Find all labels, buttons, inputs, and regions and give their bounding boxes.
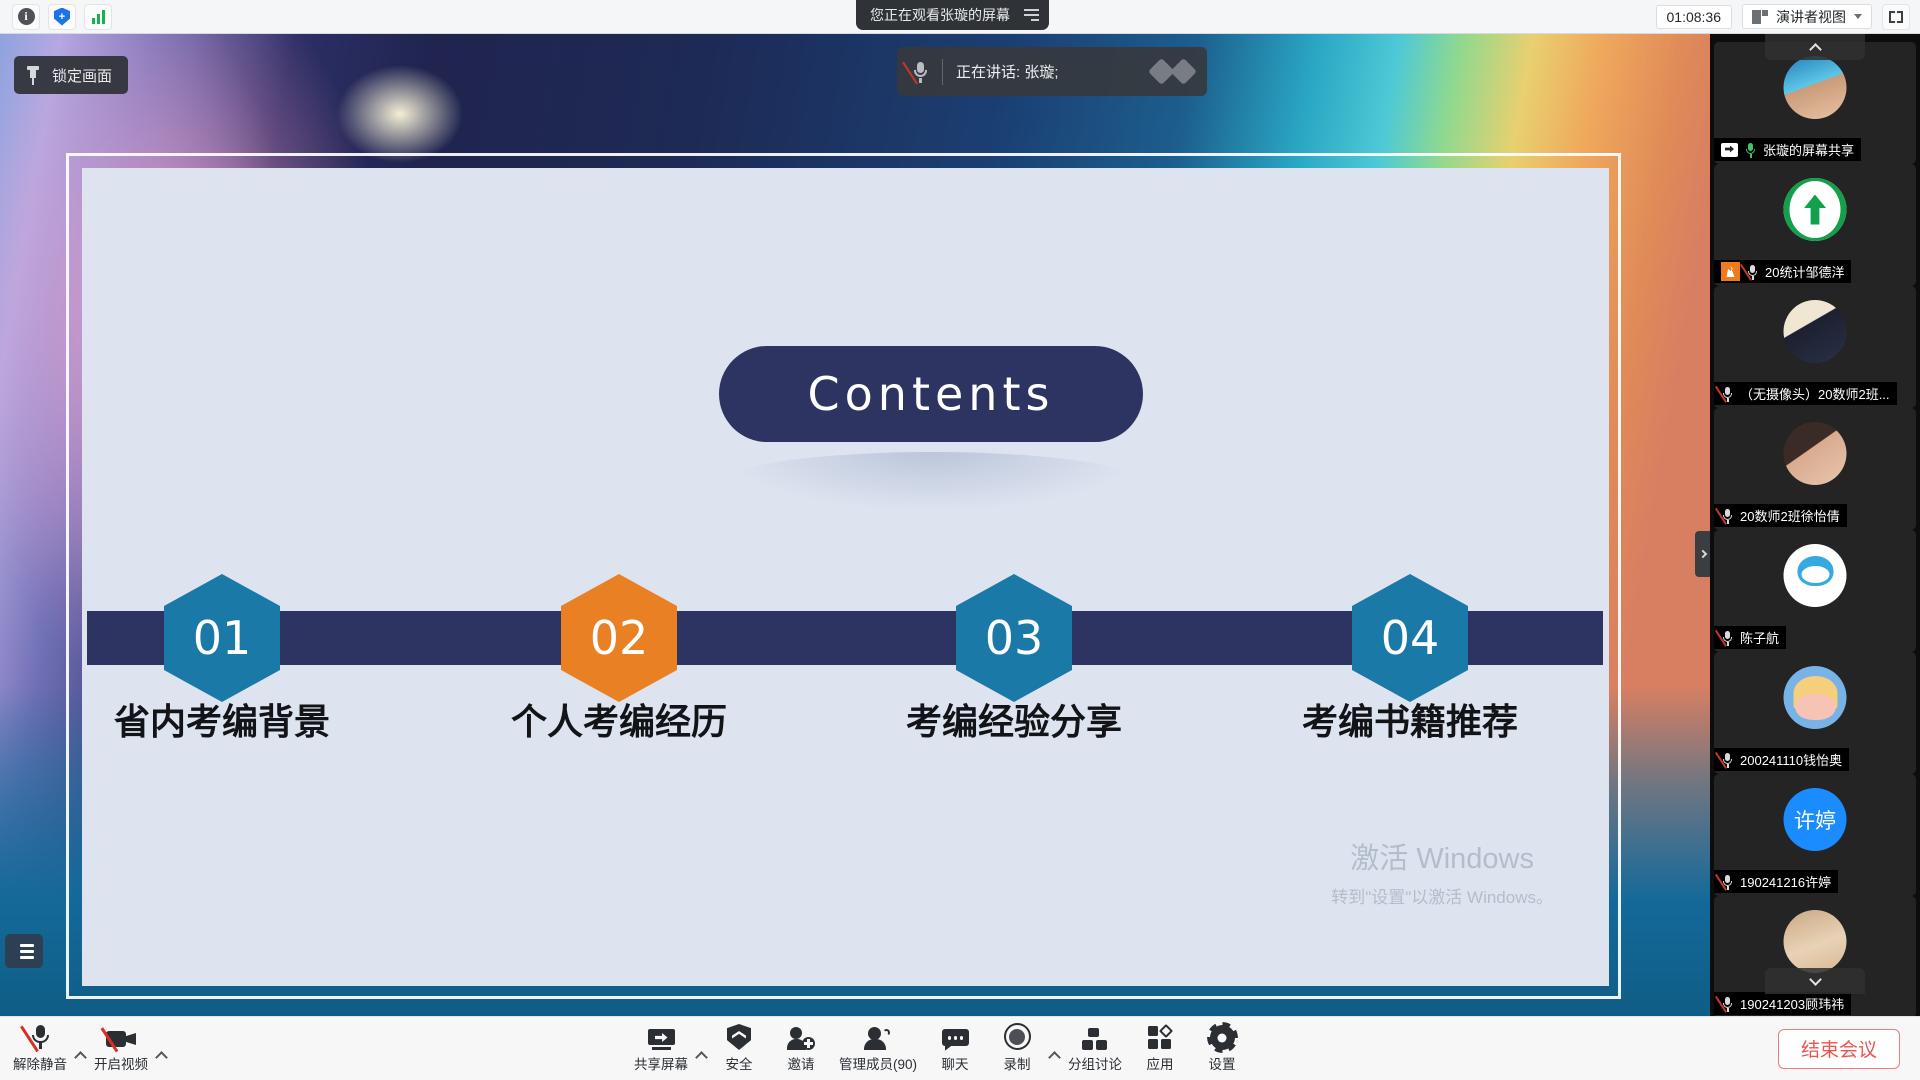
timeline-hex-03: 03 [956, 574, 1072, 702]
slide-title-shadow [727, 452, 1137, 510]
toolbar-center-group: 共享屏幕安全邀请管理成员(90)聊天录制分组讨论应用设置 [627, 1018, 1253, 1080]
exit-fullscreen-button[interactable] [1882, 4, 1910, 30]
participant-tile[interactable]: 200241110钱怡奥 [1714, 652, 1916, 774]
participant-footer: 陈子航 [1714, 626, 1786, 649]
toolbar-button-breakout-rooms[interactable]: 分组讨论 [1061, 1018, 1129, 1080]
shared-screen-stage[interactable]: 锁定画面 正在讲话: 张璇; Contents 01省内考编背景02个人考编经历… [0, 34, 1710, 1016]
slide-title: Contents [719, 346, 1143, 442]
mic-muted-icon [1721, 630, 1734, 646]
toolbar-button-invite-person[interactable]: 邀请 [770, 1018, 832, 1080]
lock-view-label: 锁定画面 [52, 65, 112, 86]
avatar [1784, 178, 1847, 241]
toolbar-button-camera-off[interactable]: 开启视频 [87, 1018, 155, 1080]
meeting-timer: 01:08:36 [1656, 5, 1733, 29]
mic-muted-icon [1721, 386, 1734, 402]
toolbar-button-chat-bubble[interactable]: 聊天 [924, 1018, 986, 1080]
participant-footer: 张璇的屏幕共享 [1714, 138, 1861, 161]
participant-tile[interactable]: 陈子航 [1714, 530, 1916, 652]
timeline-label-01: 省内考编背景 [57, 693, 387, 745]
toolbar-button-label: 安全 [726, 1053, 753, 1073]
divider [942, 59, 943, 85]
chevron-up-icon [1809, 43, 1822, 56]
presentation-slide: Contents 01省内考编背景02个人考编经历03考编经验分享04考编书籍推… [82, 168, 1609, 986]
toolbar-button-label: 邀请 [788, 1053, 815, 1073]
participant-name: 190241203顾玮祎 [1740, 994, 1844, 1013]
view-mode-selector[interactable]: 演讲者视图 [1742, 4, 1872, 29]
windows-activation-watermark: 激活 Windows 转到"设置"以激活 Windows。 [1331, 835, 1553, 908]
mic-muted-icon [28, 1024, 52, 1050]
avatar [1784, 56, 1847, 119]
rail-scroll-down-button[interactable] [1765, 968, 1865, 994]
mic-muted-icon [1721, 752, 1734, 768]
chat-bubble-icon [942, 1024, 969, 1050]
participant-name: 190241216许婷 [1740, 872, 1831, 891]
timeline-label-04: 考编书籍推荐 [1245, 693, 1575, 745]
mic-muted-icon [1721, 874, 1734, 890]
host-badge-icon [1721, 262, 1740, 281]
toolbar-button-label: 开启视频 [94, 1053, 148, 1073]
breakout-rooms-icon [1082, 1024, 1108, 1050]
participant-name: （无摄像头）20数师2班... [1740, 384, 1890, 403]
security-button[interactable]: + [48, 4, 76, 30]
audio-waveform-icon [1152, 62, 1193, 81]
timeline-label-02: 个人考编经历 [454, 693, 784, 745]
mic-on-icon [1744, 142, 1757, 158]
chevron-down-icon [1854, 14, 1862, 19]
timeline-hex-04: 04 [1352, 574, 1468, 702]
meeting-toolbar: 解除静音开启视频 共享屏幕安全邀请管理成员(90)聊天录制分组讨论应用设置 结束… [0, 1016, 1920, 1080]
camera-off-icon [106, 1024, 136, 1050]
active-speaker-label: 正在讲话: 张璇; [956, 61, 1059, 82]
toolbar-button-label: 应用 [1147, 1053, 1174, 1073]
participant-tile[interactable]: 张璇的屏幕共享 [1714, 42, 1916, 164]
avatar [1784, 666, 1847, 729]
subtitle-button[interactable] [5, 934, 43, 968]
chevron-right-icon [1698, 550, 1706, 558]
participant-name: 20统计邹德洋 [1765, 262, 1844, 281]
participant-rail[interactable]: 张璇的屏幕共享20统计邹德洋（无摄像头）20数师2班...20数师2班徐怡倩陈子… [1710, 34, 1920, 1016]
toolbar-button-gear[interactable]: 设置 [1191, 1018, 1253, 1080]
toolbar-button-share-screen[interactable]: 共享屏幕 [627, 1018, 695, 1080]
toolbar-button-record[interactable]: 录制 [986, 1018, 1048, 1080]
shield-plus-icon: + [54, 8, 70, 26]
toolbar-button-apps-grid[interactable]: 应用 [1129, 1018, 1191, 1080]
toolbar-button-label: 共享屏幕 [634, 1053, 688, 1073]
toolbar-button-security-shield[interactable]: 安全 [708, 1018, 770, 1080]
participant-name: 陈子航 [1740, 628, 1779, 647]
toolbar-button-mic-muted[interactable]: 解除静音 [6, 1018, 74, 1080]
view-mode-label: 演讲者视图 [1776, 7, 1846, 27]
toolbar-button-label: 分组讨论 [1068, 1053, 1122, 1073]
watching-screen-banner[interactable]: 您正在观看张璇的屏幕 [856, 0, 1049, 30]
collapse-rail-button[interactable] [1695, 531, 1710, 577]
timeline-hex-02: 02 [561, 574, 677, 702]
signal-bars-icon [92, 10, 105, 24]
participant-tile[interactable]: （无摄像头）20数师2班... [1714, 286, 1916, 408]
chevron-up-icon[interactable] [695, 1051, 708, 1064]
manage-participants-icon [864, 1024, 892, 1050]
avatar [1784, 910, 1847, 973]
timeline-hex-01: 01 [164, 574, 280, 702]
avatar: 许婷 [1784, 788, 1847, 851]
end-meeting-button[interactable]: 结束会议 [1778, 1029, 1900, 1069]
info-icon: i [18, 8, 35, 25]
chevron-up-icon[interactable] [1048, 1051, 1061, 1064]
toolbar-button-label: 聊天 [942, 1053, 969, 1073]
lock-view-button[interactable]: 锁定画面 [14, 56, 128, 94]
pin-icon [26, 65, 40, 85]
participant-footer: 200241110钱怡奥 [1714, 748, 1849, 771]
watching-label: 您正在观看张璇的屏幕 [870, 5, 1010, 25]
mic-muted-icon [1746, 264, 1759, 280]
participant-name: 张璇的屏幕共享 [1763, 140, 1854, 159]
subtitle-list-icon [14, 944, 34, 959]
timeline-label-03: 考编经验分享 [849, 693, 1179, 745]
participant-footer: 20统计邹德洋 [1714, 260, 1851, 283]
participant-footer: （无摄像头）20数师2班... [1714, 382, 1897, 405]
gear-icon [1210, 1024, 1235, 1050]
mic-muted-icon [1721, 996, 1734, 1012]
avatar [1784, 300, 1847, 363]
invite-person-icon [787, 1024, 815, 1050]
toolbar-button-label: 解除静音 [13, 1053, 67, 1073]
participant-tile[interactable]: 20数师2班徐怡倩 [1714, 408, 1916, 530]
mic-muted-icon [911, 61, 929, 83]
active-speaker-banner: 正在讲话: 张璇; [897, 47, 1207, 96]
watermark-line1: 激活 Windows [1331, 835, 1553, 877]
share-screen-icon [648, 1024, 675, 1050]
hamburger-menu-icon[interactable] [1024, 9, 1039, 21]
chevron-down-icon [1809, 973, 1822, 986]
speaker-view-icon [1752, 10, 1768, 24]
screen-share-icon [1721, 143, 1738, 157]
toolbar-button-label: 管理成员(90) [839, 1053, 917, 1073]
toolbar-button-manage-participants[interactable]: 管理成员(90) [832, 1018, 924, 1080]
toolbar-button-label: 设置 [1209, 1053, 1236, 1073]
record-icon [1004, 1024, 1031, 1050]
chevron-up-icon[interactable] [74, 1051, 87, 1064]
avatar [1784, 544, 1847, 607]
participant-footer: 20数师2班徐怡倩 [1714, 504, 1847, 527]
participant-tile[interactable]: 190241203顾玮祎 [1714, 896, 1916, 1016]
avatar [1784, 422, 1847, 485]
participant-name: 20数师2班徐怡倩 [1740, 506, 1840, 525]
toolbar-button-label: 录制 [1004, 1053, 1031, 1073]
participant-footer: 190241203顾玮祎 [1714, 992, 1851, 1015]
watermark-line2: 转到"设置"以激活 Windows。 [1331, 883, 1553, 908]
security-shield-icon [727, 1024, 751, 1050]
participant-name: 200241110钱怡奥 [1740, 750, 1842, 769]
info-button[interactable]: i [12, 4, 40, 30]
presentation-frame: Contents 01省内考编背景02个人考编经历03考编经验分享04考编书籍推… [66, 153, 1621, 999]
mic-muted-icon [1721, 508, 1734, 524]
toolbar-left-group: 解除静音开启视频 [6, 1018, 168, 1080]
chevron-up-icon[interactable] [155, 1051, 168, 1064]
network-quality-button[interactable] [84, 4, 112, 30]
participant-tile[interactable]: 许婷190241216许婷 [1714, 774, 1916, 896]
apps-grid-icon [1148, 1024, 1173, 1050]
participant-tile[interactable]: 20统计邹德洋 [1714, 164, 1916, 286]
rail-scroll-up-button[interactable] [1765, 34, 1865, 60]
participant-footer: 190241216许婷 [1714, 870, 1838, 893]
